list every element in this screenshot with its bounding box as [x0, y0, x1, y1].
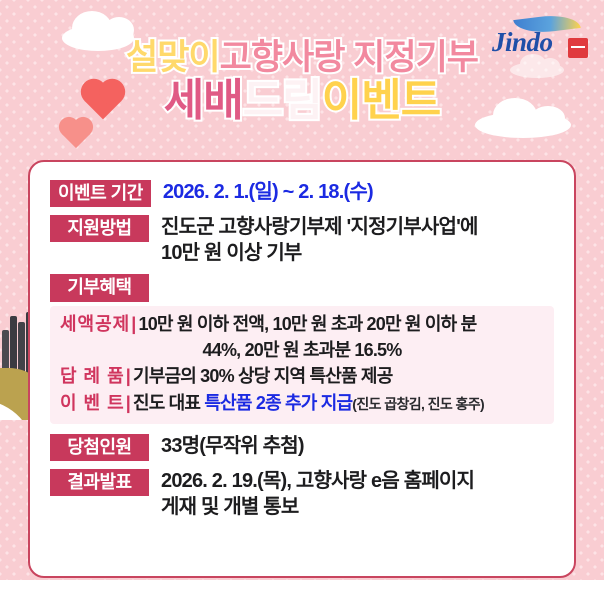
- poster-title: 설맞이고향사랑 지정기부 세배드림이벤트: [0, 40, 604, 123]
- title-segment-holiday: 설맞이: [126, 40, 220, 75]
- benefit-label-gift: 답 례 품: [60, 366, 125, 386]
- benefit-event-line: 이 벤 트|진도 대표 특산품 2종 추가 지급(진도 곱창김, 진도 홍주): [60, 392, 544, 415]
- benefit-separator-event: |: [126, 393, 130, 413]
- badge-event-period: 이벤트 기간: [50, 180, 151, 207]
- event-poster: Jindo 설맞이고향사랑 지정기부 세배드림이벤트 이벤트 기간 2026. …: [0, 0, 604, 605]
- donation-benefits-box: 세액공제|10만 원 이하 전액, 10만 원 초과 20만 원 이하 분 44…: [50, 306, 554, 425]
- benefit-tax-deduction-line-2: 44%, 20만 원 초과분 16.5%: [60, 339, 544, 362]
- benefit-text-gift: 기부금의 30% 상당 지역 특산품 제공: [133, 366, 393, 386]
- participation-line-1: 진도군 고향사랑기부제 '지정기부사업'에: [161, 215, 554, 241]
- benefit-label-event: 이 벤 트: [60, 393, 125, 413]
- benefit-text-tax-deduction-1: 10만 원 이하 전액, 10만 원 초과 20만 원 이하 분: [139, 314, 477, 334]
- row-event-period: 이벤트 기간 2026. 2. 1.(일) ~ 2. 18.(수): [50, 180, 554, 207]
- benefit-gift-line: 답 례 품|기부금의 30% 상당 지역 특산품 제공: [60, 365, 544, 388]
- badge-donation-benefits: 기부혜택: [50, 274, 149, 301]
- benefit-text-event-note: (진도 곱창김, 진도 홍주): [352, 396, 484, 412]
- badge-result-announcement: 결과발표: [50, 469, 149, 496]
- badge-winner-count: 당첨인원: [50, 434, 149, 461]
- participation-line-2: 10만 원 이상 기부: [161, 241, 554, 267]
- value-participation-method: 진도군 고향사랑기부제 '지정기부사업'에 10만 원 이상 기부: [149, 215, 554, 266]
- row-result-announcement: 결과발표 2026. 2. 19.(목), 고향사랑 e음 홈페이지 게재 및 …: [50, 469, 554, 520]
- value-winner-count: 33명(무작위 추첨): [149, 434, 554, 460]
- event-info-card: 이벤트 기간 2026. 2. 1.(일) ~ 2. 18.(수) 지원방법 진…: [28, 160, 576, 578]
- benefit-text-tax-deduction-2: 44%, 20만 원 초과분 16.5%: [203, 340, 402, 360]
- title-line-2: 세배드림이벤트: [0, 79, 604, 123]
- title-line-1: 설맞이고향사랑 지정기부: [0, 40, 604, 75]
- value-event-period: 2026. 2. 1.(일) ~ 2. 18.(수): [151, 180, 554, 206]
- badge-participation-method: 지원방법: [50, 215, 149, 242]
- announcement-line-1: 2026. 2. 19.(목), 고향사랑 e음 홈페이지: [161, 469, 554, 495]
- benefit-label-tax-deduction: 세액공제: [60, 314, 130, 334]
- benefit-text-event-prefix: 진도 대표: [133, 393, 204, 413]
- row-winner-count: 당첨인원 33명(무작위 추첨): [50, 434, 554, 461]
- title-segment-deurim: 드림: [243, 79, 322, 123]
- title-segment-sebae: 세배: [164, 79, 243, 123]
- row-donation-benefits: 기부혜택: [50, 274, 554, 301]
- title-segment-event: 이벤트: [322, 79, 440, 123]
- value-result-announcement: 2026. 2. 19.(목), 고향사랑 e음 홈페이지 게재 및 개별 통보: [149, 469, 554, 520]
- benefit-separator: |: [131, 314, 135, 334]
- announcement-line-2: 게재 및 개별 통보: [161, 495, 554, 521]
- benefit-separator-gift: |: [126, 366, 130, 386]
- benefit-tax-deduction-line-1: 세액공제|10만 원 이하 전액, 10만 원 초과 20만 원 이하 분: [60, 313, 544, 336]
- benefit-text-event-highlight: 특산품 2종 추가 지급: [204, 393, 352, 413]
- row-participation-method: 지원방법 진도군 고향사랑기부제 '지정기부사업'에 10만 원 이상 기부: [50, 215, 554, 266]
- title-segment-hometown-donation: 고향사랑 지정기부: [220, 40, 478, 75]
